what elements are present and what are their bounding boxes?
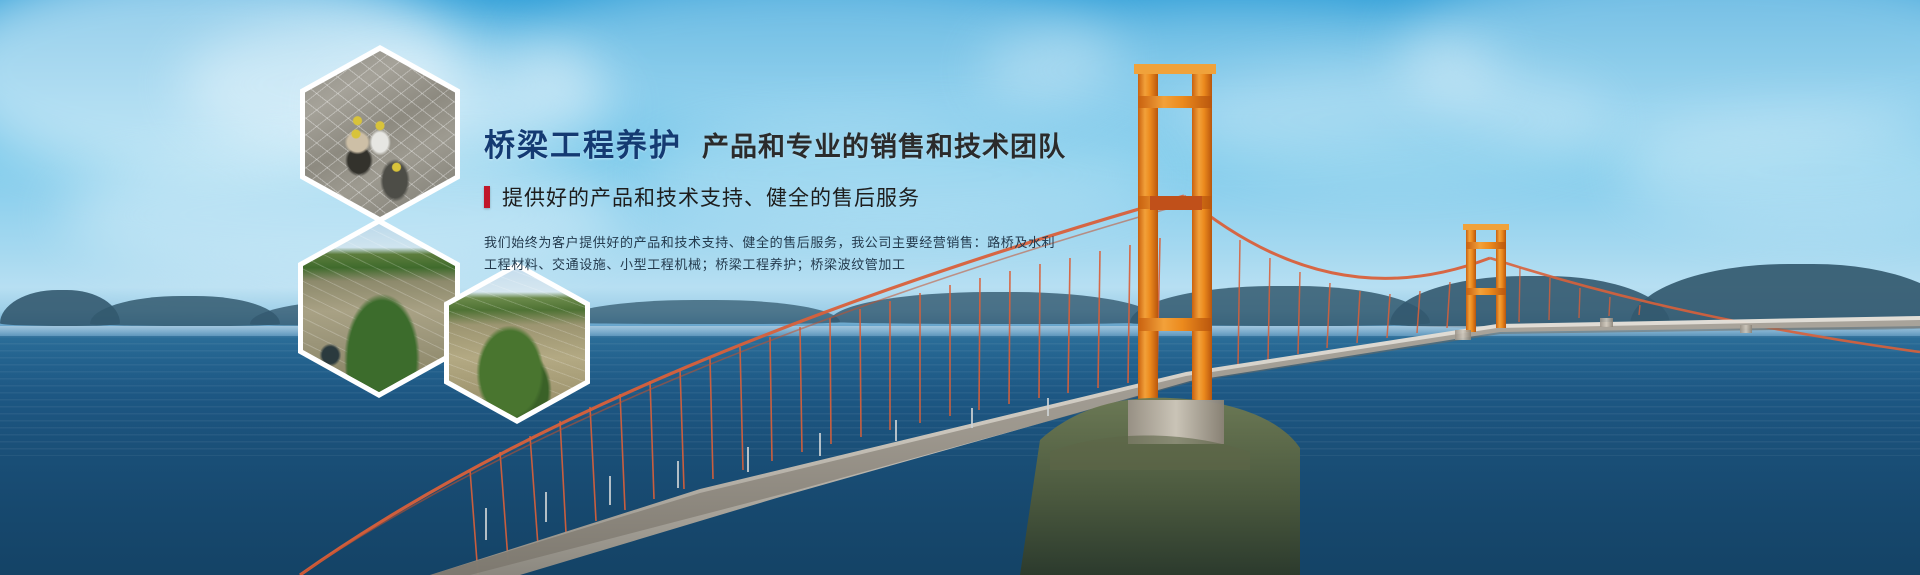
- bridge-tower-secondary: [1463, 224, 1509, 332]
- hex-photo-rock-slope-mesh-installation[interactable]: [300, 45, 460, 223]
- photo-rock-slope-mesh-installation: [305, 51, 455, 217]
- hex-photo-hillside-mesh-slope[interactable]: [298, 218, 460, 398]
- hex-photo-clip: [449, 268, 585, 418]
- hex-photo-clip: [305, 51, 455, 217]
- banner-description-line-2: 工程材料、交通设施、小型工程机械；桥梁工程养护；桥梁波纹管加工: [484, 254, 1044, 276]
- banner-description: 我们始终为客户提供好的产品和技术支持、健全的售后服务，我公司主要经营销售：路桥及…: [484, 232, 1044, 276]
- hex-photo-clip: [303, 224, 455, 392]
- hero-banner: 桥梁工程养护 产品和专业的销售和技术团队 提供好的产品和技术支持、健全的售后服务…: [0, 0, 1920, 575]
- banner-subtitle: 提供好的产品和技术支持、健全的售后服务: [502, 182, 920, 212]
- banner-text-block: 桥梁工程养护 产品和专业的销售和技术团队 提供好的产品和技术支持、健全的售后服务…: [484, 120, 1044, 276]
- banner-subtitle-row: 提供好的产品和技术支持、健全的售后服务: [484, 182, 1044, 212]
- suspension-bridge-illustration: [0, 0, 1920, 575]
- banner-title-sub: 产品和专业的销售和技术团队: [702, 125, 1066, 164]
- accent-bar-icon: [484, 186, 490, 208]
- bridge-tower-main: [1134, 64, 1216, 420]
- banner-title-row: 桥梁工程养护 产品和专业的销售和技术团队: [484, 120, 1044, 165]
- banner-title-main: 桥梁工程养护: [484, 120, 682, 165]
- hex-photo-slope-protection-sapling[interactable]: [444, 262, 590, 424]
- photo-slope-protection-sapling: [449, 268, 585, 418]
- banner-description-line-1: 我们始终为客户提供好的产品和技术支持、健全的售后服务，我公司主要经营销售：路桥及…: [484, 232, 1044, 254]
- photo-hillside-mesh-slope: [303, 224, 455, 392]
